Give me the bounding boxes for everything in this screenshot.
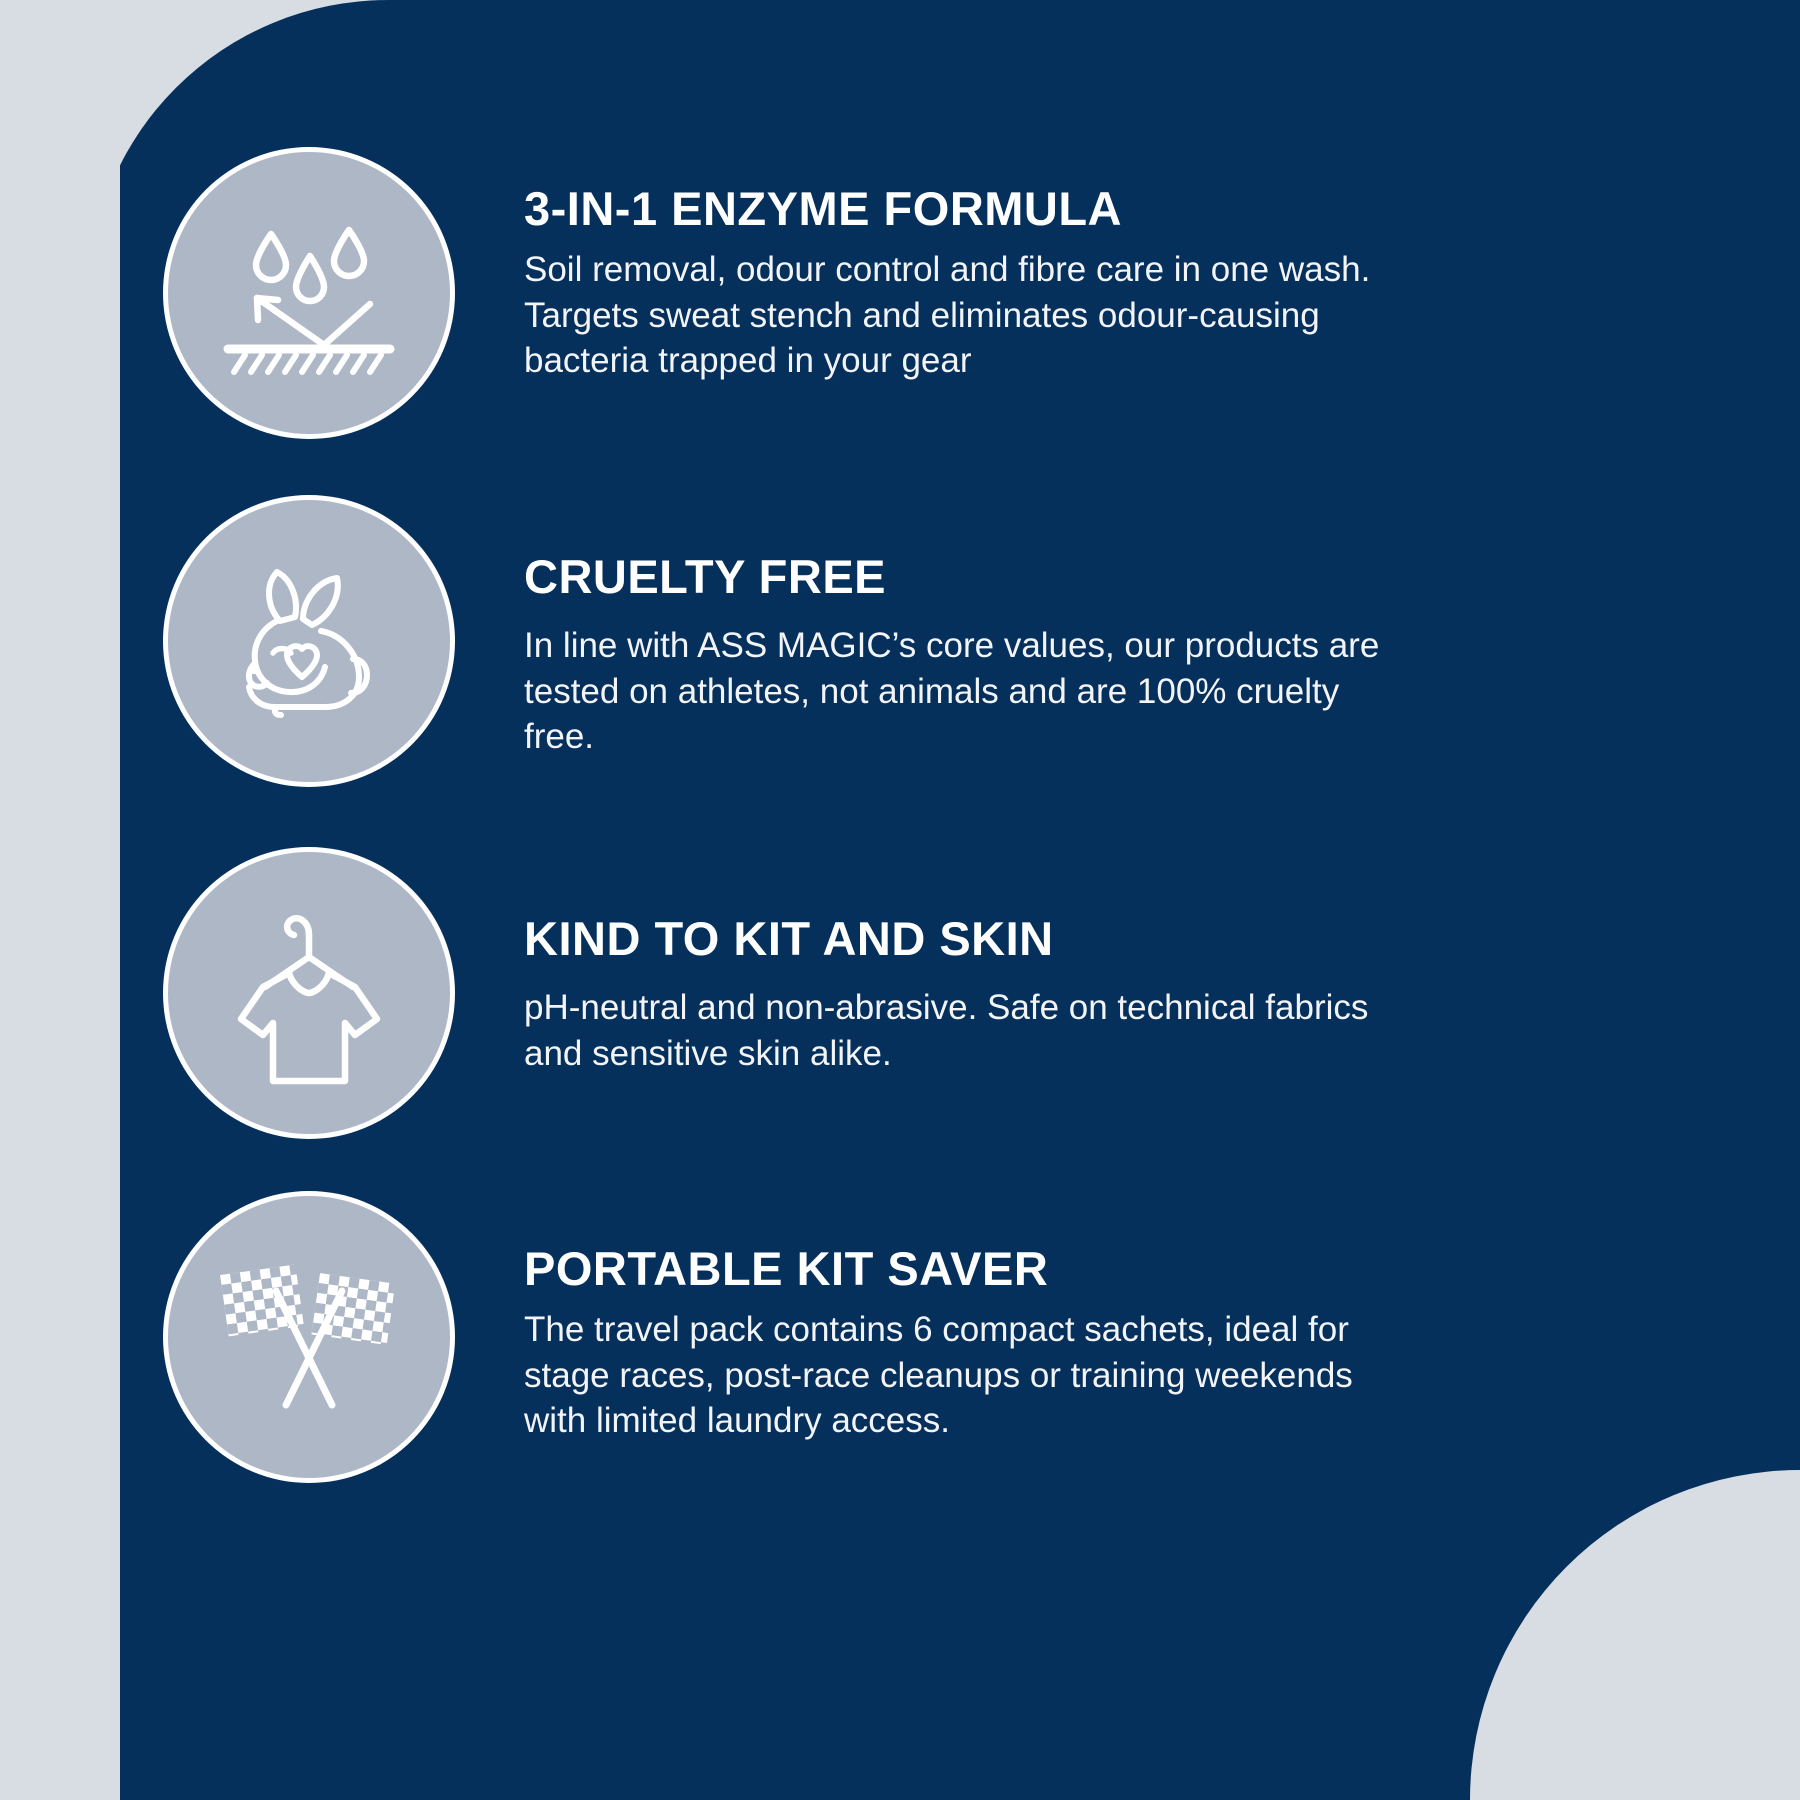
infographic-canvas: 3-IN-1 ENZYME FORMULA Soil removal, odou… bbox=[0, 0, 1800, 1800]
feature-description: In line with ASS MAGIC’s core values, ou… bbox=[524, 623, 1404, 760]
crossed-checkered-flags-icon bbox=[214, 1257, 404, 1417]
feature-copy: 3-IN-1 ENZYME FORMULA Soil removal, odou… bbox=[524, 152, 1404, 384]
feature-description: pH-neutral and non-abrasive. Safe on tec… bbox=[524, 985, 1404, 1076]
water-droplets-repellent-surface-icon bbox=[214, 208, 404, 378]
feature-icon-badge bbox=[168, 852, 450, 1134]
feature-row: PORTABLE KIT SAVER The travel pack conta… bbox=[168, 1196, 1404, 1478]
feature-copy: KIND TO KIT AND SKIN pH-neutral and non-… bbox=[524, 852, 1404, 1076]
feature-title: KIND TO KIT AND SKIN bbox=[524, 914, 1404, 963]
feature-description: Soil removal, odour control and fibre ca… bbox=[524, 247, 1404, 384]
feature-row: 3-IN-1 ENZYME FORMULA Soil removal, odou… bbox=[168, 152, 1404, 434]
feature-title: 3-IN-1 ENZYME FORMULA bbox=[524, 184, 1404, 233]
feature-description: The travel pack contains 6 compact sache… bbox=[524, 1307, 1404, 1444]
feature-copy: PORTABLE KIT SAVER The travel pack conta… bbox=[524, 1196, 1404, 1444]
feature-title: CRUELTY FREE bbox=[524, 552, 1404, 601]
feature-copy: CRUELTY FREE In line with ASS MAGIC’s co… bbox=[524, 500, 1404, 760]
feature-row: CRUELTY FREE In line with ASS MAGIC’s co… bbox=[168, 500, 1404, 782]
rabbit-with-heart-icon bbox=[217, 559, 401, 723]
feature-list: 3-IN-1 ENZYME FORMULA Soil removal, odou… bbox=[0, 0, 1800, 1800]
feature-icon-badge bbox=[168, 152, 450, 434]
feature-title: PORTABLE KIT SAVER bbox=[524, 1244, 1404, 1293]
feature-row: KIND TO KIT AND SKIN pH-neutral and non-… bbox=[168, 852, 1404, 1134]
tshirt-on-hanger-icon bbox=[219, 895, 399, 1091]
feature-icon-badge bbox=[168, 1196, 450, 1478]
feature-icon-badge bbox=[168, 500, 450, 782]
